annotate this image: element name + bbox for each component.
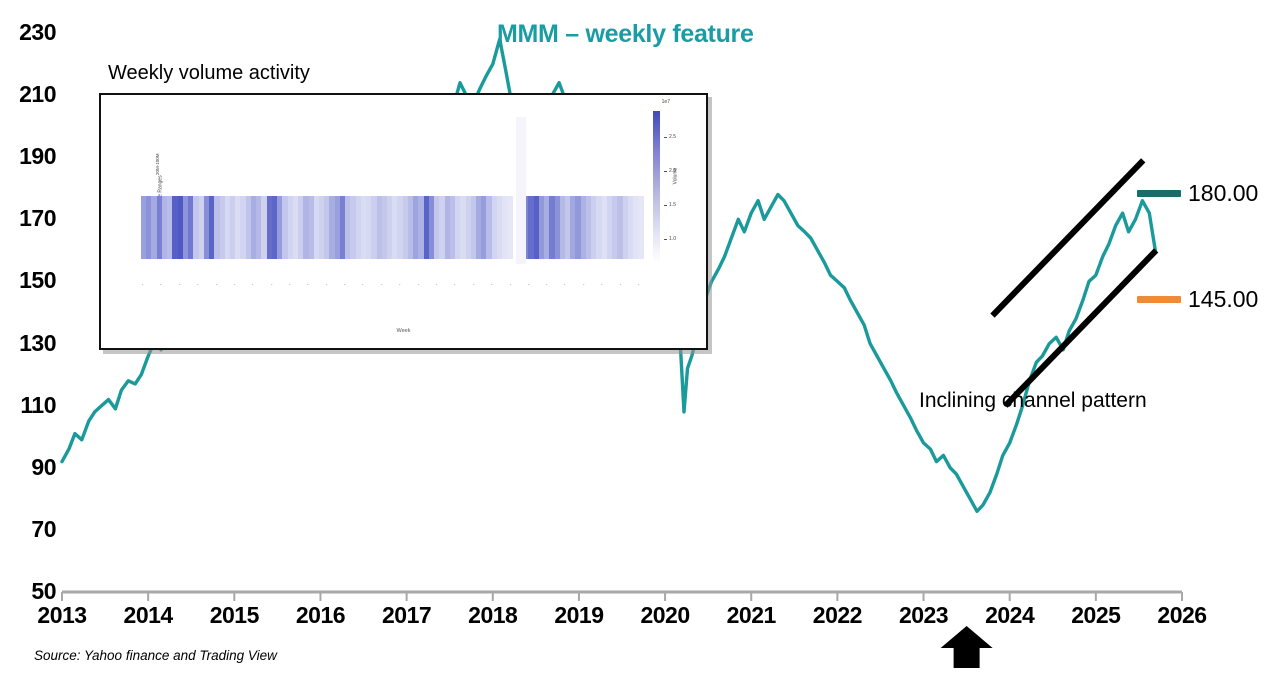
x-axis-label-2014: 2014 (108, 602, 188, 629)
y-axis-label-210: 210 (0, 81, 56, 108)
x-axis-label-2021: 2021 (711, 602, 791, 629)
colorbar-tick-0: 2.5 (669, 134, 676, 140)
price-upper-dash (1137, 190, 1181, 197)
source-note: Source: Yahoo finance and Trading View (34, 648, 277, 663)
y-axis-label-150: 150 (0, 267, 56, 294)
volume-heatmap-inset: Volume Ranges 20M-100M 10M-20M 2013-01-0… (99, 93, 708, 350)
colorbar-tick-mark-0 (664, 137, 667, 138)
x-axis-label-2018: 2018 (453, 602, 533, 629)
y-axis-label-50: 50 (0, 578, 56, 605)
x-axis-label-2015: 2015 (194, 602, 274, 629)
y-axis-label-110: 110 (0, 392, 56, 419)
page-title: MMM – weekly feature (497, 20, 754, 49)
x-axis-label-2016: 2016 (280, 602, 360, 629)
x-axis-label-2023: 2023 (884, 602, 964, 629)
inset-y-tick-0: 20M-100M (155, 153, 160, 175)
x-axis-label-2026: 2026 (1142, 602, 1222, 629)
price-lower-label: 145.00 (1188, 286, 1258, 313)
channel-upper (992, 160, 1143, 315)
y-axis-label-70: 70 (0, 516, 56, 543)
x-axis-label-2019: 2019 (539, 602, 619, 629)
y-axis-label-90: 90 (0, 454, 56, 481)
heatmap-missing-column (516, 117, 527, 264)
inset-x-tick-labels: 2013-01-072013-04-012013-06-242013-09-16… (141, 284, 644, 322)
x-axis-label-2017: 2017 (367, 602, 447, 629)
colorbar-tick-3: 1.0 (669, 236, 676, 242)
colorbar-gradient (653, 111, 660, 263)
focus-arrow-icon (941, 626, 993, 668)
channel-lower (1005, 250, 1156, 405)
x-axis-label-2025: 2025 (1056, 602, 1136, 629)
y-axis-label-190: 190 (0, 143, 56, 170)
inset-plot-area: Volume Ranges 20M-100M 10M-20M (141, 103, 644, 282)
y-axis-label-130: 130 (0, 330, 56, 357)
heatmap-cell (638, 196, 643, 259)
y-axis-label-170: 170 (0, 205, 56, 232)
x-axis-label-2013: 2013 (22, 602, 102, 629)
x-axis-label-2024: 2024 (970, 602, 1050, 629)
volume-heatmap-band (141, 196, 644, 259)
colorbar-tick-1: 2.0 (669, 168, 676, 174)
x-axis-label-2022: 2022 (797, 602, 877, 629)
y-axis-label-230: 230 (0, 19, 56, 46)
channel-pattern-annotation: Inclining channel pattern (919, 389, 1147, 413)
x-axis-label-2020: 2020 (625, 602, 705, 629)
colorbar-tick-mark-2 (664, 205, 667, 206)
price-lower-dash (1137, 296, 1181, 303)
inset-x-axis-label: Week (101, 328, 706, 334)
inset-title: Weekly volume activity (108, 62, 310, 85)
colorbar-exponent: 1e7 (662, 99, 670, 105)
colorbar-tick-2: 1.5 (669, 202, 676, 208)
colorbar-tick-mark-1 (664, 171, 667, 172)
chart-canvas: MMM – weekly feature Weekly volume activ… (0, 0, 1267, 681)
colorbar-tick-mark-3 (664, 239, 667, 240)
price-upper-label: 180.00 (1188, 180, 1258, 207)
